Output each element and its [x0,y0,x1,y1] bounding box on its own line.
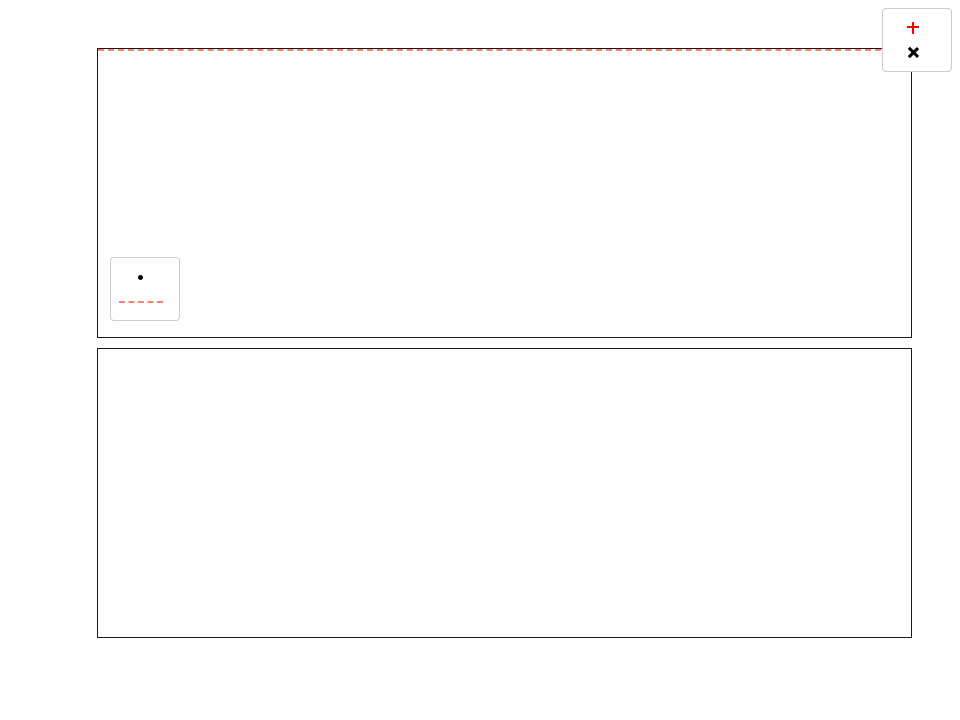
legend-bottom [882,8,952,72]
x-tick-marks-bottom [97,638,912,646]
cross-marker-icon [890,43,936,63]
dot-marker-icon [118,267,164,287]
dashed-line-icon [118,292,164,312]
legend-top [110,257,180,321]
legend-item-matched-stars [890,15,942,40]
legend-item-measurements [118,264,170,289]
plot-area-bottom [97,348,912,638]
x-tick-marks-top [97,338,912,346]
legend-item-threshold [118,289,170,314]
y-tick-labels-bottom [36,0,88,720]
matplotlib-figure [0,0,960,720]
plot-area-top [97,48,912,338]
threshold-line [98,49,911,51]
plus-marker-icon [890,18,936,38]
legend-item-predicted-stars [890,40,942,65]
